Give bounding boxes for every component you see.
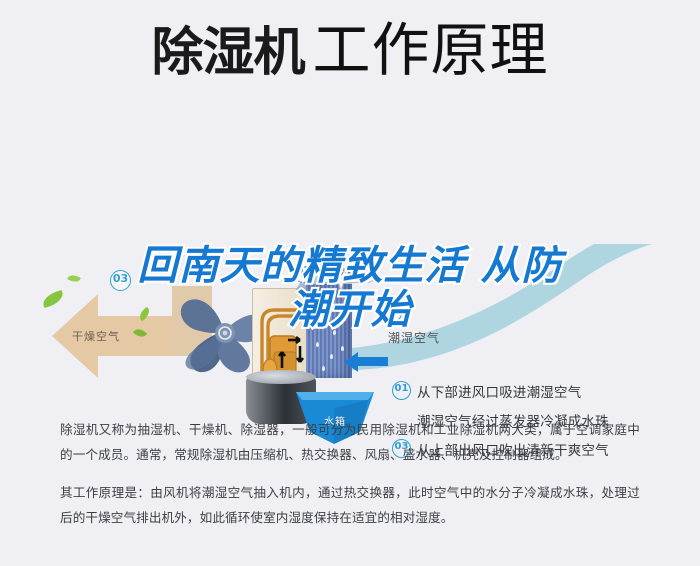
compressor-drum-top	[246, 370, 316, 384]
body-paragraph-1: 除湿机又称为抽湿机、干燥机、除湿器，一般可分为民用除湿机和工业除湿机两大类，属于…	[60, 418, 640, 467]
air-intake-arrow-icon	[344, 352, 388, 372]
page-title-part1: 除湿机	[151, 23, 304, 83]
moist-air-label: 潮湿空气	[388, 329, 440, 346]
step-list-item: 01 从下部进风口吸进潮湿空气	[392, 376, 692, 405]
callout-pointer-icon	[336, 278, 346, 292]
diagram-badge-02: 02	[293, 262, 314, 283]
step-badge-01: 01	[392, 381, 411, 400]
page-header: 除湿机工作原理	[0, 0, 700, 118]
heat-exchanger-callout: 热交换器	[318, 261, 376, 283]
leaf-icon	[67, 273, 81, 284]
dehumidifier-diagram: 干燥空气 03	[0, 118, 700, 408]
page-title: 除湿机工作原理	[0, 22, 700, 80]
dry-air-label: 干燥空气	[72, 328, 120, 344]
diagram-badge-03: 03	[110, 270, 131, 291]
diagram-badge-01: 01	[381, 302, 402, 323]
step-text-01: 从下部进风口吸进潮湿空气	[417, 381, 581, 401]
page-title-part2: 工作原理	[313, 18, 549, 83]
body-copy: 除湿机又称为抽湿机、干燥机、除湿器，一般可分为民用除湿机和工业除湿机两大类，属于…	[0, 418, 700, 530]
body-paragraph-2: 其工作原理是：由风机将潮湿空气抽入机内，通过热交换器，此时空气中的水分子冷凝成水…	[60, 481, 640, 530]
